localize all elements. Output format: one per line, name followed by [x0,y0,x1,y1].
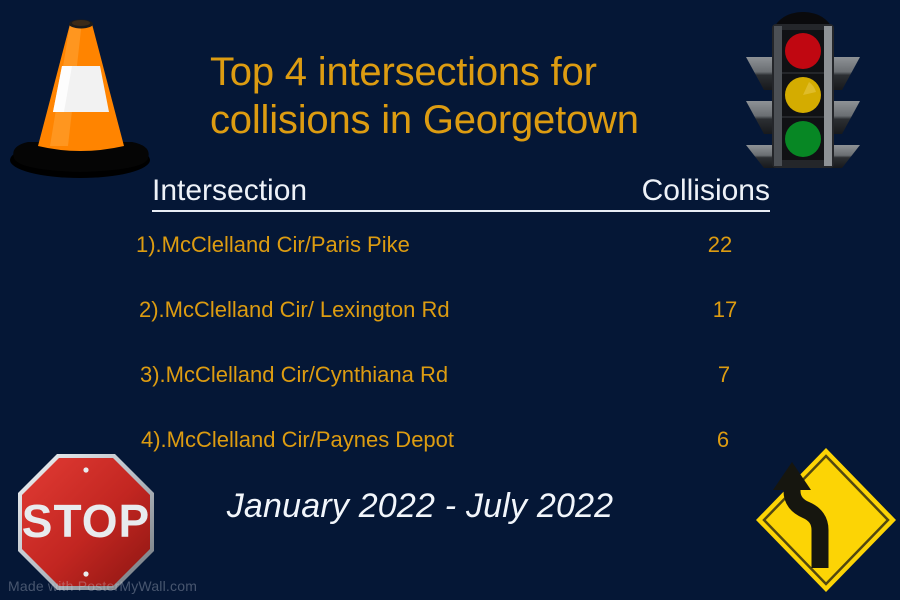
collisions-table: Intersection Collisions 1).McClelland Ci… [152,168,770,472]
table-row: 2).McClelland Cir/ Lexington Rd 17 [152,277,770,342]
intersection-name: 1).McClelland Cir/Paris Pike [136,232,410,258]
traffic-light-red [785,33,821,69]
intersection-name: 4).McClelland Cir/Paynes Depot [141,427,454,453]
poster-canvas: STOP Top 4 intersections for collisions … [0,0,900,600]
traffic-light-icon [730,8,876,173]
collision-count: 22 [680,232,760,258]
table-row: 1).McClelland Cir/Paris Pike 22 [152,212,770,277]
traffic-cone-icon [6,8,156,178]
collision-count: 6 [683,427,763,453]
postermywall-watermark: Made with PosterMyWall.com [8,578,197,594]
traffic-light-green [785,121,821,157]
page-title: Top 4 intersections for collisions in Ge… [210,48,710,144]
date-range-label: January 2022 - July 2022 [0,487,840,526]
table-header-row: Intersection Collisions [152,168,770,212]
intersection-name: 2).McClelland Cir/ Lexington Rd [139,297,450,323]
collision-count: 7 [684,362,764,388]
column-header-intersection: Intersection [152,175,307,207]
collision-count: 17 [685,297,765,323]
intersection-name: 3).McClelland Cir/Cynthiana Rd [140,362,448,388]
table-row: 4).McClelland Cir/Paynes Depot 6 [152,407,770,472]
column-header-collisions: Collisions [642,175,770,207]
table-row: 3).McClelland Cir/Cynthiana Rd 7 [152,342,770,407]
